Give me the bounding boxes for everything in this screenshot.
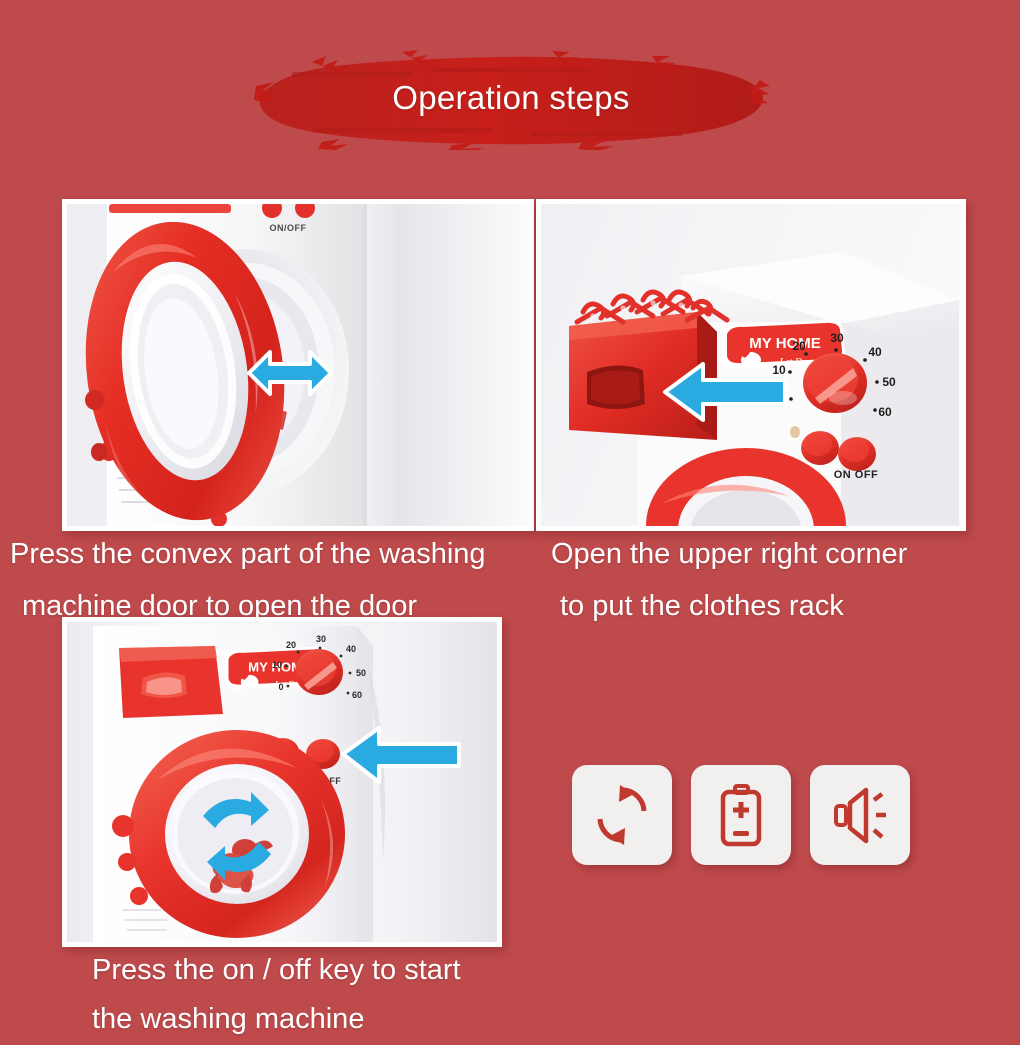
panel-open-door: ON/OFF	[62, 199, 534, 531]
detergent-drawer[interactable]	[119, 646, 223, 718]
sound-icon	[828, 783, 892, 847]
brand-name: MY HOME	[749, 335, 820, 352]
panel-clothes-rack-image: MY HOME Let Dream 0 10 20 30 40 50 60	[541, 204, 961, 526]
feature-tile-sound[interactable]	[810, 765, 910, 865]
power-button-highlight	[841, 438, 869, 462]
battery-icon	[709, 783, 773, 847]
dial-tick-20: 20	[792, 339, 806, 353]
dial-tick-40: 40	[868, 345, 882, 359]
dial-tick-30: 30	[316, 634, 326, 644]
feature-icon-row	[572, 765, 910, 865]
on-off-label-panel1: ON/OFF	[270, 223, 307, 233]
feature-tile-rotation[interactable]	[572, 765, 672, 865]
rotation-icon	[590, 783, 654, 847]
caption-step2-line2: to put the clothes rack	[560, 580, 844, 632]
dial-tick-10: 10	[272, 660, 282, 670]
dial-tick-60: 60	[878, 405, 892, 419]
on-off-label-panel2: ON OFF	[834, 469, 879, 481]
dial-tick-50: 50	[356, 668, 366, 678]
button-left-highlight	[804, 432, 832, 456]
feature-tile-battery[interactable]	[691, 765, 791, 865]
caption-step1-line2: machine door to open the door	[22, 580, 417, 632]
dial-tick-0: 0	[278, 682, 283, 692]
dial-tick-20: 20	[286, 640, 296, 650]
caption-step3-line2: the washing machine	[92, 993, 364, 1045]
caption-step3-line1: Press the on / off key to start	[92, 944, 461, 996]
power-button-highlight	[308, 740, 334, 762]
panel-power-button: MY HOME Let Dream 0 10 20 30 40 50 60	[62, 617, 502, 947]
dial-tick-50: 50	[882, 375, 896, 389]
dial-tick-40: 40	[346, 644, 356, 654]
machine-door[interactable]	[129, 730, 345, 938]
washing-machine-front-illustration: MY HOME Let Dream 0 10 20 30 40 50 60	[67, 622, 497, 942]
panel-clothes-rack: MY HOME Let Dream 0 10 20 30 40 50 60	[536, 199, 966, 531]
washing-machine-rack-illustration: MY HOME Let Dream 0 10 20 30 40 50 60	[541, 204, 961, 526]
page-title: Operation steps	[252, 46, 770, 150]
panel-power-button-image: MY HOME Let Dream 0 10 20 30 40 50 60	[67, 622, 497, 942]
caption-step2-line1: Open the upper right corner	[551, 528, 907, 580]
poster-stage: Operation steps	[0, 0, 1020, 1020]
dial-tick-30: 30	[830, 331, 844, 345]
dial-tick-60: 60	[352, 690, 362, 700]
caption-step1-line1: Press the convex part of the washing	[10, 528, 486, 580]
panel-open-door-image: ON/OFF	[67, 204, 529, 526]
washing-machine-door-illustration: ON/OFF	[67, 204, 529, 526]
title-banner: Operation steps	[252, 46, 770, 150]
dial-tick-10: 10	[772, 363, 786, 377]
